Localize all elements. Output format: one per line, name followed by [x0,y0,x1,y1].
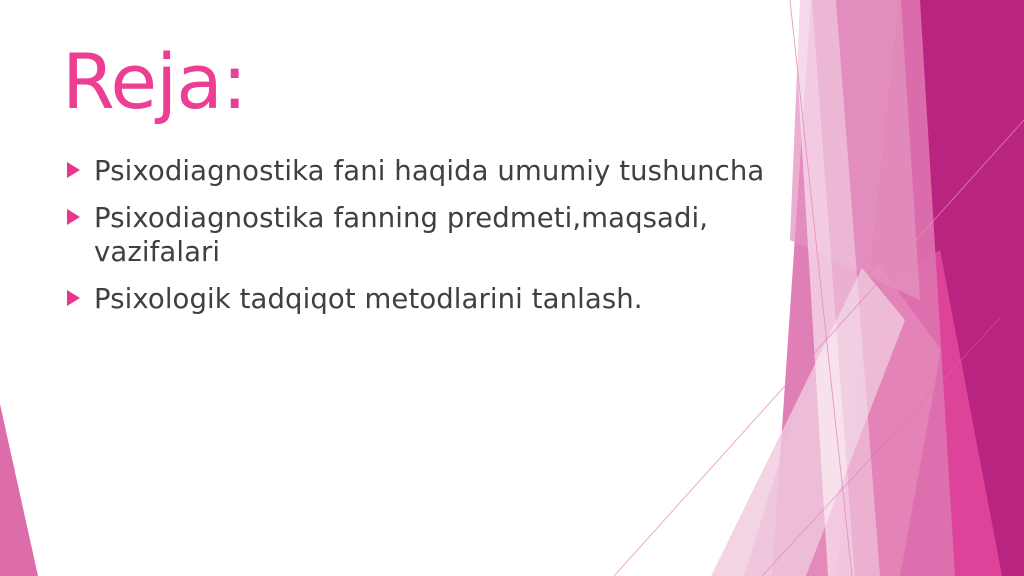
deco-shape-white-sliver [793,0,855,576]
deco-hairline-top [790,0,852,576]
slide-title: Reja: [62,44,778,120]
deco-shape-light-wash [812,0,880,576]
triangle-right-icon [67,162,80,178]
deco-shape-corner-pink [0,404,38,576]
bullet-item-label: Psixodiagnostika fanning predmeti,maqsad… [94,201,778,269]
deco-shape-bright-pink [846,250,1002,576]
bullet-item-1: Psixodiagnostika fani haqida umumiy tush… [58,154,778,188]
slide-content: Reja: Psixodiagnostika fani haqida umumi… [58,44,778,316]
triangle-right-icon [67,209,80,225]
triangle-right-icon [67,290,80,306]
bullet-item-3: Psixologik tadqiqot metodlarini tanlash. [58,282,778,316]
deco-shape-dark-magenta [836,0,1024,576]
bullet-item-label: Psixodiagnostika fani haqida umumiy tush… [94,154,778,188]
deco-hairline-mid [762,318,1000,576]
bullet-item-label: Psixologik tadqiqot metodlarini tanlash. [94,282,778,316]
deco-shape-mid-pink [772,0,955,576]
deco-shape-soft-pink-top [790,0,920,300]
bullet-list: Psixodiagnostika fani haqida umumiy tush… [58,154,778,316]
deco-shape-deep-magenta [899,0,1024,576]
bullet-item-2: Psixodiagnostika fanning predmeti,maqsad… [58,201,778,269]
presentation-slide: Reja: Psixodiagnostika fani haqida umumi… [0,0,1024,576]
